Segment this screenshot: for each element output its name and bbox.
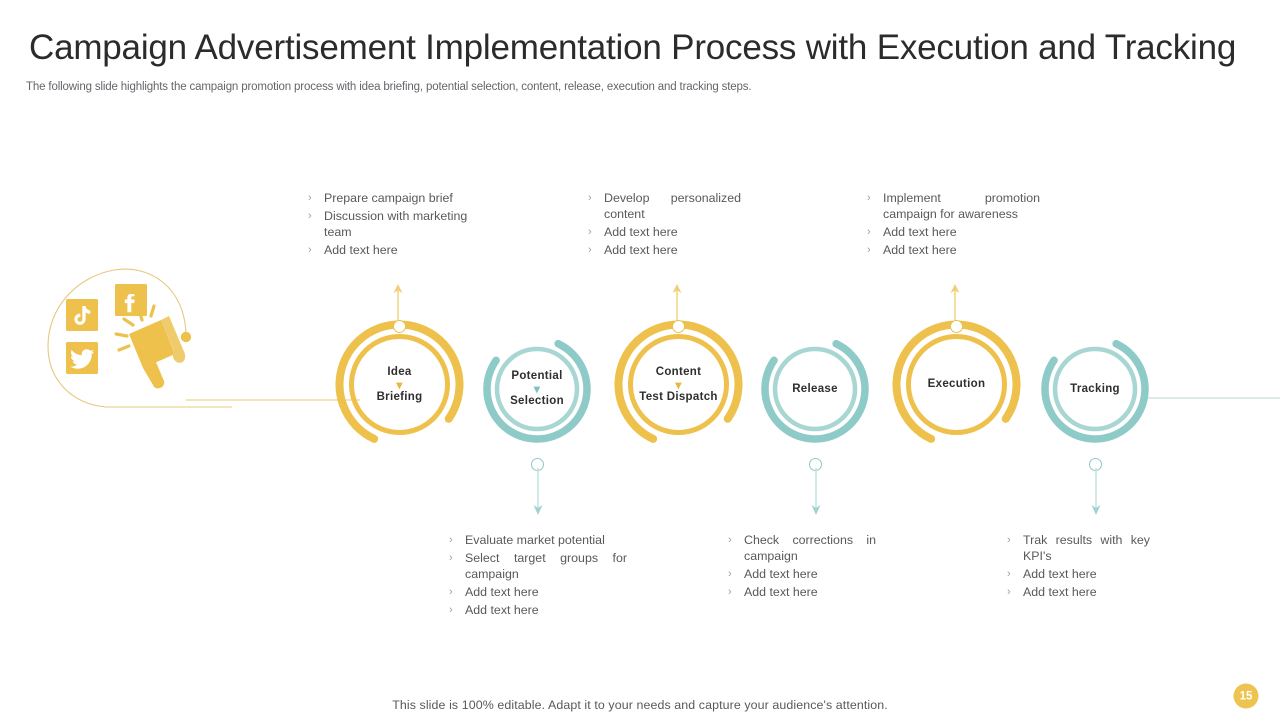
bullet-chevron-icon: › <box>865 190 883 206</box>
process-node-content-test-dispatch[interactable]: Content ▾ Test Dispatch <box>613 319 744 450</box>
twitter-icon <box>66 342 98 374</box>
callout-top-content-test-dispatch: › Develop personalized content › Add tex… <box>586 190 741 260</box>
inner-ring <box>631 337 727 433</box>
stem-release <box>796 468 836 523</box>
bullet-chevron-icon: › <box>306 242 324 258</box>
callout-top-execution: › Implement promotion campaign for aware… <box>865 190 1040 260</box>
node-rings <box>891 319 1022 450</box>
outer-arc <box>749 323 882 456</box>
node-rings <box>334 319 465 450</box>
node-knob-execution <box>950 320 963 333</box>
bullet-chevron-icon: › <box>726 584 744 600</box>
bullet-chevron-icon: › <box>447 532 465 548</box>
list-item: › Add text here <box>586 224 741 240</box>
bullet-chevron-icon: › <box>306 208 324 224</box>
list-item: › Select target groups for campaign <box>447 550 627 582</box>
inner-ring <box>1055 349 1135 429</box>
social-media-illustration <box>36 258 226 408</box>
page-subtitle: The following slide highlights the campa… <box>26 80 1126 94</box>
page-number-badge: 15 <box>1234 684 1259 709</box>
list-item: › Add text here <box>865 242 1040 258</box>
list-item: › Add text here <box>726 584 876 600</box>
tiktok-icon <box>66 299 98 331</box>
inner-ring <box>352 337 448 433</box>
facebook-icon <box>115 284 147 316</box>
bullet-chevron-icon: › <box>586 242 604 258</box>
node-knob-content-test-dispatch <box>672 320 685 333</box>
outer-arc <box>471 323 604 456</box>
slide: Campaign Advertisement Implementation Pr… <box>0 0 1280 720</box>
callout-bottom-potential-selection: › Evaluate market potential › Select tar… <box>447 532 627 620</box>
inner-ring <box>497 349 577 429</box>
outer-arc <box>1029 323 1162 456</box>
list-item: › Develop personalized content <box>586 190 741 222</box>
bullet-chevron-icon: › <box>447 550 465 566</box>
node-rings <box>760 334 870 444</box>
list-item: › Add text here <box>447 584 627 600</box>
arc-endpoint-dot <box>181 332 191 342</box>
bullet-chevron-icon: › <box>726 532 744 548</box>
callout-bottom-tracking: › Trak results with key KPI's › Add text… <box>1005 532 1150 602</box>
inner-ring <box>775 349 855 429</box>
bullet-chevron-icon: › <box>865 242 883 258</box>
node-rings <box>482 334 592 444</box>
bullet-chevron-icon: › <box>1005 532 1023 548</box>
inner-ring <box>909 337 1005 433</box>
list-item: › Add text here <box>1005 566 1150 582</box>
list-item: › Trak results with key KPI's <box>1005 532 1150 564</box>
node-rings <box>613 319 744 450</box>
bullet-chevron-icon: › <box>306 190 324 206</box>
editable-note: This slide is 100% editable. Adapt it to… <box>0 698 1280 712</box>
list-item: › Add text here <box>447 602 627 618</box>
list-item: › Evaluate market potential <box>447 532 627 548</box>
list-item: › Add text here <box>865 224 1040 240</box>
bullet-chevron-icon: › <box>865 224 883 240</box>
stem-potential-selection <box>518 468 558 523</box>
node-rings <box>1040 334 1150 444</box>
process-node-tracking[interactable]: Tracking <box>1040 334 1150 444</box>
list-item: › Discussion with marketing team <box>306 208 486 240</box>
bullet-chevron-icon: › <box>447 602 465 618</box>
process-node-idea-briefing[interactable]: Idea ▾ Briefing <box>334 319 465 450</box>
process-node-potential-selection[interactable]: Potential ▾ Selection <box>482 334 592 444</box>
process-node-release[interactable]: Release <box>760 334 870 444</box>
stem-tracking <box>1076 468 1116 523</box>
bullet-chevron-icon: › <box>586 190 604 206</box>
bullet-chevron-icon: › <box>726 566 744 582</box>
page-title: Campaign Advertisement Implementation Pr… <box>29 26 1249 70</box>
process-node-execution[interactable]: Execution <box>891 319 1022 450</box>
bullet-chevron-icon: › <box>1005 584 1023 600</box>
list-item: › Implement promotion campaign for aware… <box>865 190 1040 222</box>
list-item: › Add text here <box>726 566 876 582</box>
callout-bottom-release: › Check corrections in campaign › Add te… <box>726 532 876 602</box>
list-item: › Add text here <box>306 242 486 258</box>
list-item: › Prepare campaign brief <box>306 190 486 206</box>
node-knob-idea-briefing <box>393 320 406 333</box>
list-item: › Add text here <box>1005 584 1150 600</box>
callout-top-idea-briefing: › Prepare campaign brief › Discussion wi… <box>306 190 486 260</box>
bullet-chevron-icon: › <box>586 224 604 240</box>
megaphone-icon <box>116 306 187 388</box>
bullet-chevron-icon: › <box>1005 566 1023 582</box>
bullet-chevron-icon: › <box>447 584 465 600</box>
list-item: › Check corrections in campaign <box>726 532 876 564</box>
list-item: › Add text here <box>586 242 741 258</box>
